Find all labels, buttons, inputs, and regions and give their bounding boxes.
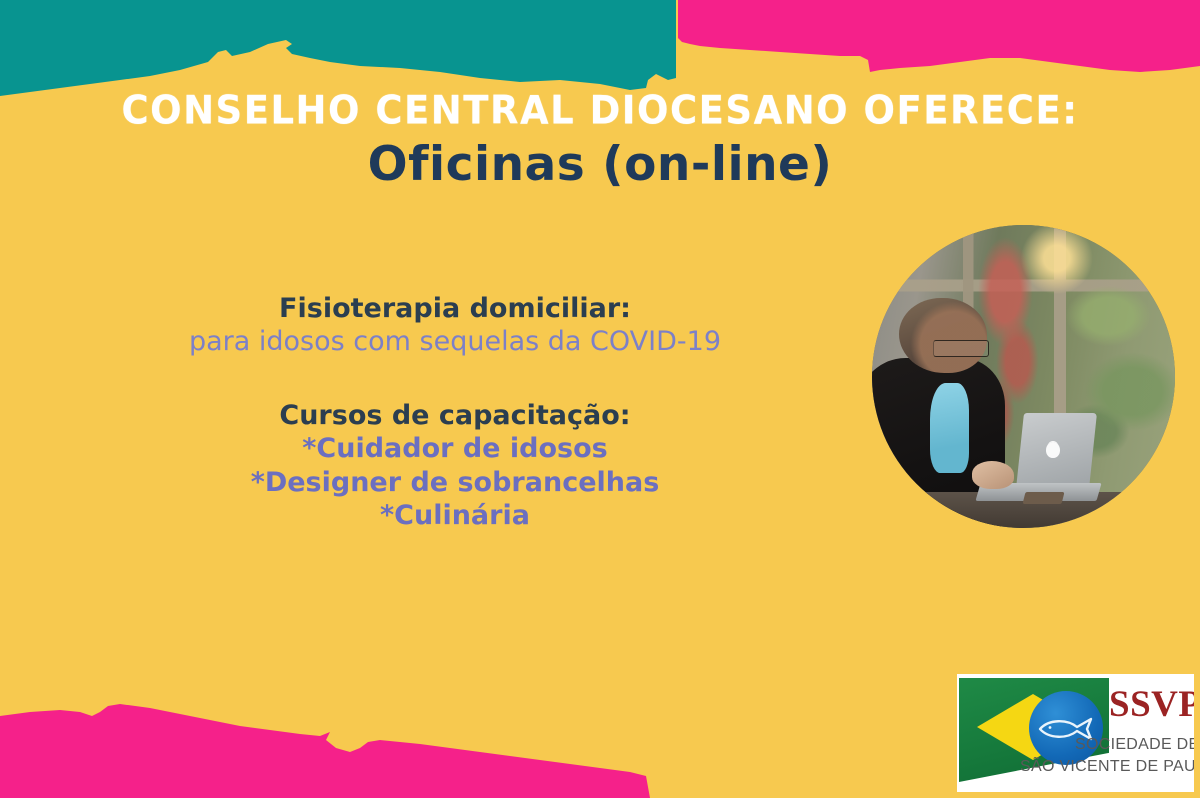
copy-line-course-cooking: *Culinária — [40, 499, 870, 532]
photo-person-hand — [972, 461, 1014, 488]
headline-main-title: Oficinas (on-line) — [0, 139, 1200, 191]
pink-bottom-torn-shape — [0, 704, 650, 798]
pink-top-torn-shape — [678, 0, 1200, 72]
copy-line-course-eyebrow-designer: *Designer de sobrancelhas — [40, 466, 870, 499]
photo-person-shirt — [930, 383, 969, 474]
apple-logo-icon — [1046, 442, 1060, 458]
copy-spacer — [40, 359, 870, 399]
copy-line-physio-heading: Fisioterapia domiciliar: — [40, 292, 870, 325]
copy-line-courses-heading: Cursos de capacitação: — [40, 399, 870, 432]
headline-block: CONSELHO CENTRAL DIOCESANO OFERECE: Ofic… — [0, 92, 1200, 191]
poster-canvas: CONSELHO CENTRAL DIOCESANO OFERECE: Ofic… — [0, 0, 1200, 798]
ssvp-subtitle-line2: SÃO VICENTE DE PAULO — [1020, 758, 1194, 776]
photo-person-head — [899, 298, 987, 374]
photo-elderly-man-laptop — [872, 225, 1175, 528]
ssvp-logo: SSVP SOCIEDADE DE SÃO VICENTE DE PAULO — [957, 674, 1194, 792]
ssvp-acronym: SSVP — [1109, 686, 1194, 723]
glasses-icon — [933, 340, 990, 357]
headline-kicker: CONSELHO CENTRAL DIOCESANO OFERECE: — [0, 91, 1200, 132]
teal-torn-shape — [0, 0, 676, 96]
copy-line-physio-detail: para idosos com sequelas da COVID-19 — [40, 325, 870, 358]
photo-notebook — [1022, 492, 1064, 504]
copy-line-course-caregiver: *Cuidador de idosos — [40, 432, 870, 465]
ssvp-subtitle-line1: SOCIEDADE DE — [1075, 736, 1194, 754]
offerings-copy-block: Fisioterapia domiciliar: para idosos com… — [40, 292, 870, 533]
